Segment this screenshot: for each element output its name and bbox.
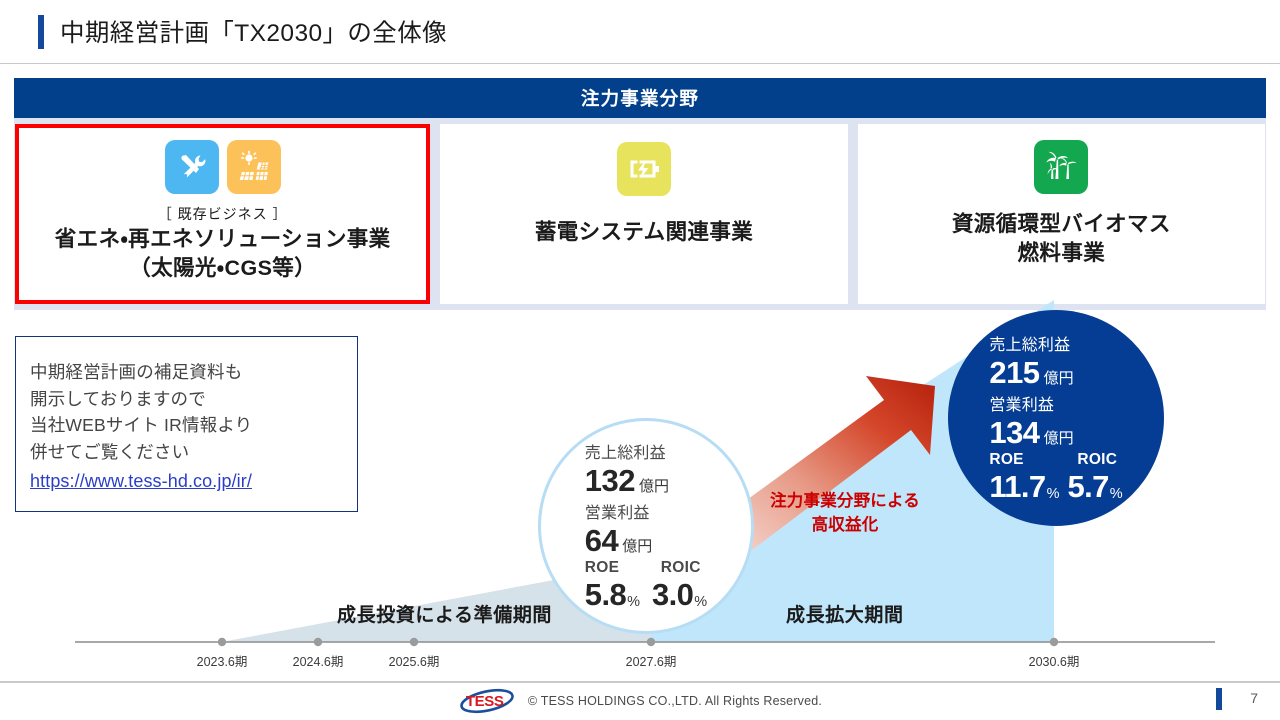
timeline-tick-dot [218,638,226,646]
timeline-tick-dot [647,638,655,646]
ratio-unit-roic: % [1110,486,1123,502]
kpi-row-gross-profit: 132 億円 [585,463,669,499]
kpi-label-gross-profit: 売上総利益 [585,439,666,463]
note-line: 当社WEBサイト IR情報より [30,412,357,439]
kpi-row-gross-profit: 215 億円 [989,355,1073,391]
ratio-value-roic: 5.7 [1067,469,1108,505]
focus-business-panel: 注力事業分野 [14,78,1266,310]
page-title: 中期経営計画「TX2030」の全体像 [60,14,447,49]
focus-business-header-label: 注力事業分野 [581,85,699,111]
slide-title-bar: 中期経営計画「TX2030」の全体像 [0,0,1280,63]
card-icon-group [617,142,671,196]
title-divider [0,63,1280,64]
card-title: 資源循環型バイオマス 燃料事業 [952,210,1171,267]
phase-label-preparation: 成長投資による準備期間 [337,600,552,627]
growth-arrow-caption: 注力事業分野による 高収益化 [757,490,933,538]
kpi-unit-gross-profit: 億円 [639,475,669,496]
card-sub-label: ［ 既存ビジネス ］ [158,204,288,224]
battery-charging-icon [617,142,671,196]
ratio-header-row: ROE ROIC [585,559,701,577]
palm-tree-icon [1034,140,1088,194]
focus-business-header: 注力事業分野 [14,78,1266,118]
page-number-accent [1216,688,1222,710]
note-line: 中期経営計画の補足資料も [30,359,357,386]
kpi-label-operating-profit: 営業利益 [585,499,650,523]
slide-root: 中期経営計画「TX2030」の全体像 注力事業分野 [0,0,1280,720]
kpi-value-operating-profit: 64 [585,523,618,559]
tools-icon [165,140,219,194]
business-card-battery-system[interactable]: 蓄電システム関連事業 [440,124,847,304]
ratio-name-roic: ROIC [1077,451,1117,469]
ratio-value-roe: 5.8 [585,577,626,613]
card-title: 蓄電システム関連事業 [535,218,753,247]
timeline-tick-dot [410,638,418,646]
supplementary-note-box: 中期経営計画の補足資料も 開示しておりますので 当社WEBサイト IR情報より … [15,336,358,512]
note-line: 併せてご覧ください [30,439,357,466]
ratio-unit-roic: % [694,594,707,610]
timeline-tick-label-2023: 2023.6期 [197,651,248,670]
ratio-value-roe: 11.7 [989,469,1045,505]
kpi-unit-gross-profit: 億円 [1044,367,1074,388]
ratio-unit-roe: % [1047,486,1060,502]
timeline-tick-label-2027: 2027.6期 [626,651,677,670]
tess-logo-text: TESS [466,693,504,710]
ratio-name-roe: ROE [989,451,1077,469]
business-card-energy-solution[interactable]: ［ 既存ビジネス ］ 省エネ・再エネソリューション事業 （太陽光・CGS等） [15,124,430,304]
kpi-unit-operating-profit: 億円 [622,535,652,556]
business-card-list: ［ 既存ビジネス ］ 省エネ・再エネソリューション事業 （太陽光・CGS等） [14,124,1266,304]
kpi-group: 売上総利益 215 億円 営業利益 134 億円 ROE ROIC 11.7 %… [989,331,1122,505]
copyright-text: © TESS HOLDINGS CO.,LTD. All Rights Rese… [528,694,822,708]
ratio-name-roic: ROIC [661,559,701,577]
ratio-value-row: 5.8 % 3.0 % [585,577,707,613]
milestone-circle-2030: 売上総利益 215 億円 営業利益 134 億円 ROE ROIC 11.7 %… [948,310,1164,526]
page-number: 7 [1250,690,1258,706]
footer: TESS © TESS HOLDINGS CO.,LTD. All Rights… [0,688,1280,714]
kpi-value-gross-profit: 132 [585,463,635,499]
timeline-tick-dot [314,638,322,646]
card-icon-group [165,140,281,194]
tess-logo: TESS [458,688,516,714]
kpi-value-gross-profit: 215 [989,355,1039,391]
kpi-value-operating-profit: 134 [989,415,1039,451]
kpi-unit-operating-profit: 億円 [1044,427,1074,448]
solar-panel-icon [227,140,281,194]
note-line: 開示しておりますので [30,386,357,413]
ratio-name-roe: ROE [585,559,661,577]
kpi-group: 売上総利益 132 億円 営業利益 64 億円 ROE ROIC 5.8 % 3… [585,439,707,613]
footer-divider [0,681,1280,683]
timeline-tick-label-2025: 2025.6期 [389,651,440,670]
ratio-header-row: ROE ROIC [989,451,1117,469]
title-accent-bar [38,15,44,49]
kpi-row-operating-profit: 134 億円 [989,415,1073,451]
card-title: 省エネ・再エネソリューション事業 （太陽光・CGS等） [55,225,391,282]
ir-site-link[interactable]: https://www.tess-hd.co.jp/ir/ [30,467,252,496]
ratio-unit-roe: % [627,594,640,610]
kpi-label-operating-profit: 営業利益 [989,391,1054,415]
timeline-tick-label-2030: 2030.6期 [1029,651,1080,670]
ratio-value-row: 11.7 % 5.7 % [989,469,1122,505]
timeline-tick-dot [1050,638,1058,646]
business-card-biomass-fuel[interactable]: 資源循環型バイオマス 燃料事業 [858,124,1265,304]
ratio-value-roic: 3.0 [652,577,693,613]
kpi-row-operating-profit: 64 億円 [585,523,653,559]
timeline-tick-label-2024: 2024.6期 [293,651,344,670]
kpi-label-gross-profit: 売上総利益 [989,331,1070,355]
card-icon-group [1034,140,1088,194]
phase-label-growth: 成長拡大期間 [786,600,904,627]
milestone-circle-2027: 売上総利益 132 億円 営業利益 64 億円 ROE ROIC 5.8 % 3… [538,418,754,634]
